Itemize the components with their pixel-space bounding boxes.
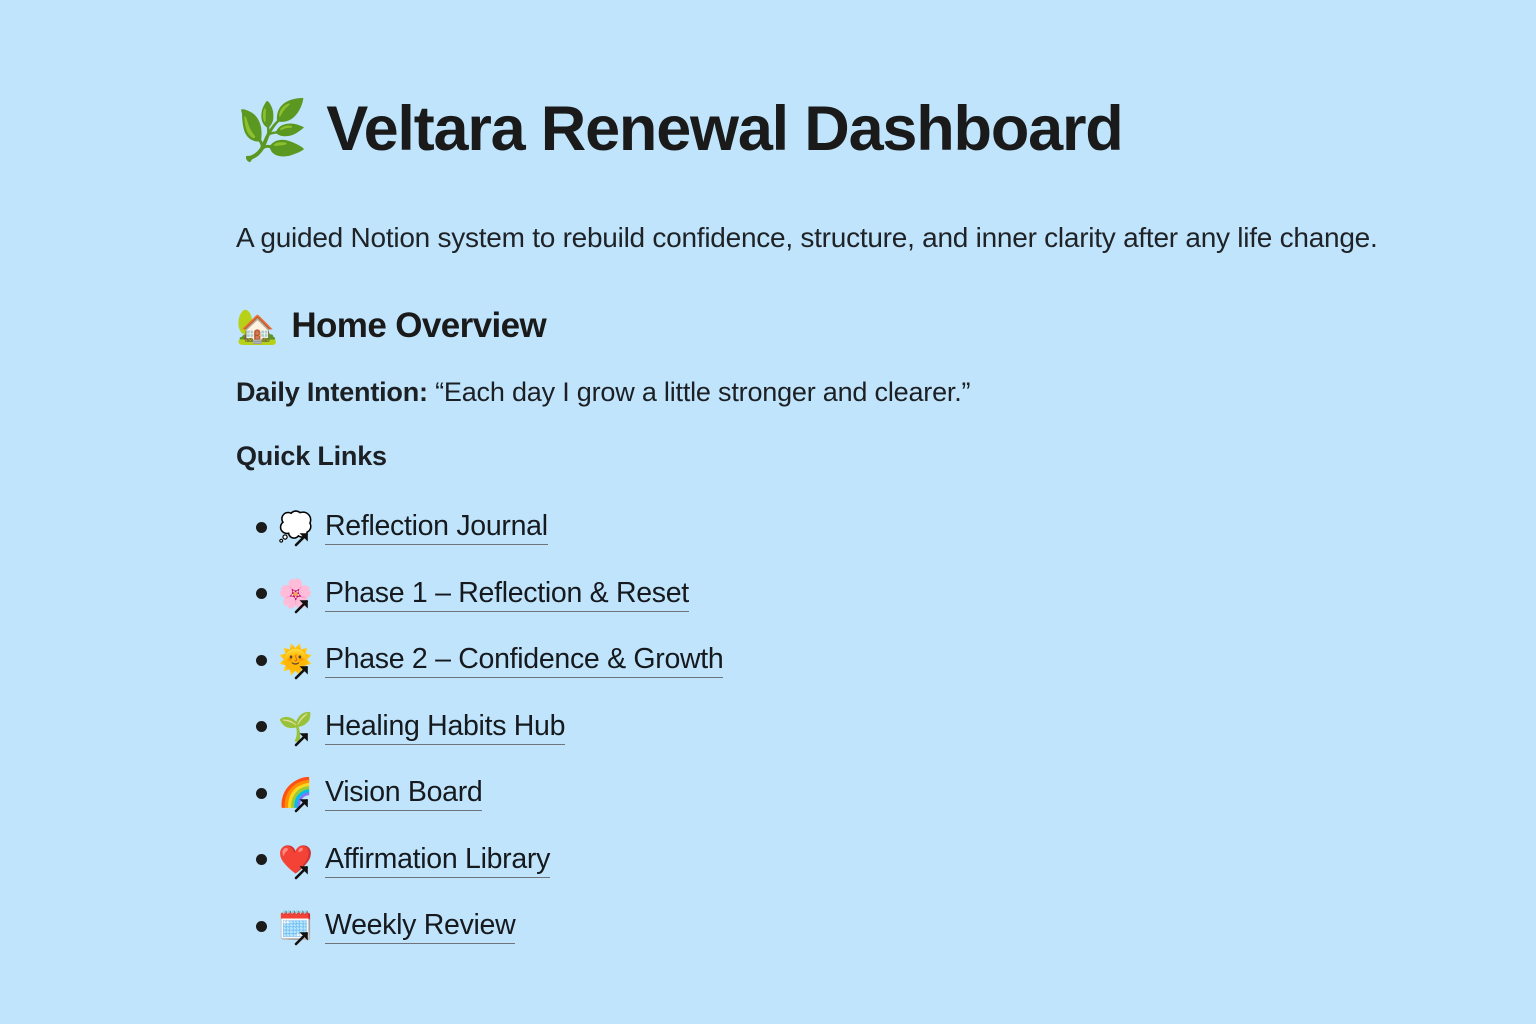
rainbow-icon: 🌈 bbox=[278, 779, 313, 807]
dashboard-page: 🌿 Veltara Renewal Dashboard A guided Not… bbox=[0, 0, 1536, 1024]
bullet-icon bbox=[236, 721, 272, 732]
thought-balloon-icon: 💭 bbox=[278, 513, 313, 541]
quick-link-vision-board[interactable]: Vision Board bbox=[325, 775, 482, 811]
quick-link-healing-habits-hub[interactable]: Healing Habits Hub bbox=[325, 709, 565, 745]
daily-intention-label: Daily Intention: bbox=[236, 377, 428, 407]
red-heart-icon: ❤️ bbox=[278, 846, 313, 874]
quick-link-weekly-review[interactable]: Weekly Review bbox=[325, 908, 515, 944]
quick-links-label: Quick Links bbox=[236, 441, 387, 472]
daily-intention-quote: “Each day I grow a little stronger and c… bbox=[435, 377, 970, 407]
list-item[interactable]: 🌱 Healing Habits Hub bbox=[236, 694, 1436, 761]
page-subtitle: A guided Notion system to rebuild confid… bbox=[236, 222, 1378, 254]
bullet-icon bbox=[236, 655, 272, 666]
list-item[interactable]: ❤️ Affirmation Library bbox=[236, 827, 1436, 894]
list-item[interactable]: 💭 Reflection Journal bbox=[236, 494, 1436, 561]
cherry-blossom-icon: 🌸 bbox=[278, 580, 313, 608]
quick-link-affirmation-library[interactable]: Affirmation Library bbox=[325, 842, 550, 878]
page-title-text: Veltara Renewal Dashboard bbox=[326, 96, 1122, 162]
link-emoji-group: 🌸 bbox=[278, 574, 324, 614]
house-with-garden-emoji: 🏡 bbox=[236, 310, 278, 344]
seedling-icon: 🌱 bbox=[278, 713, 313, 741]
sun-with-face-icon: 🌞 bbox=[278, 646, 313, 674]
quick-link-phase-2[interactable]: Phase 2 – Confidence & Growth bbox=[325, 642, 723, 678]
link-emoji-group: ❤️ bbox=[278, 840, 324, 880]
list-item[interactable]: 🌞 Phase 2 – Confidence & Growth bbox=[236, 627, 1436, 694]
bullet-icon bbox=[236, 854, 272, 865]
section-heading: 🏡 Home Overview bbox=[236, 306, 546, 346]
quick-link-phase-1[interactable]: Phase 1 – Reflection & Reset bbox=[325, 576, 689, 612]
list-item[interactable]: 🗓️ Weekly Review bbox=[236, 893, 1436, 960]
quick-link-reflection-journal[interactable]: Reflection Journal bbox=[325, 509, 548, 545]
page-title: 🌿 Veltara Renewal Dashboard bbox=[236, 96, 1123, 162]
bullet-icon bbox=[236, 588, 272, 599]
daily-intention: Daily Intention: “Each day I grow a litt… bbox=[236, 377, 970, 408]
bullet-icon bbox=[236, 921, 272, 932]
list-item[interactable]: 🌸 Phase 1 – Reflection & Reset bbox=[236, 561, 1436, 628]
link-emoji-group: 💭 bbox=[278, 507, 324, 547]
quick-links-list: 💭 Reflection Journal 🌸 Phase 1 – Reflect… bbox=[236, 494, 1436, 960]
link-emoji-group: 🌞 bbox=[278, 640, 324, 680]
bullet-icon bbox=[236, 788, 272, 799]
link-emoji-group: 🌱 bbox=[278, 707, 324, 747]
link-emoji-group: 🗓️ bbox=[278, 906, 324, 946]
link-emoji-group: 🌈 bbox=[278, 773, 324, 813]
list-item[interactable]: 🌈 Vision Board bbox=[236, 760, 1436, 827]
bullet-icon bbox=[236, 522, 272, 533]
section-heading-text: Home Overview bbox=[291, 306, 546, 346]
spiral-calendar-icon: 🗓️ bbox=[278, 912, 313, 940]
herb-emoji: 🌿 bbox=[236, 102, 308, 160]
